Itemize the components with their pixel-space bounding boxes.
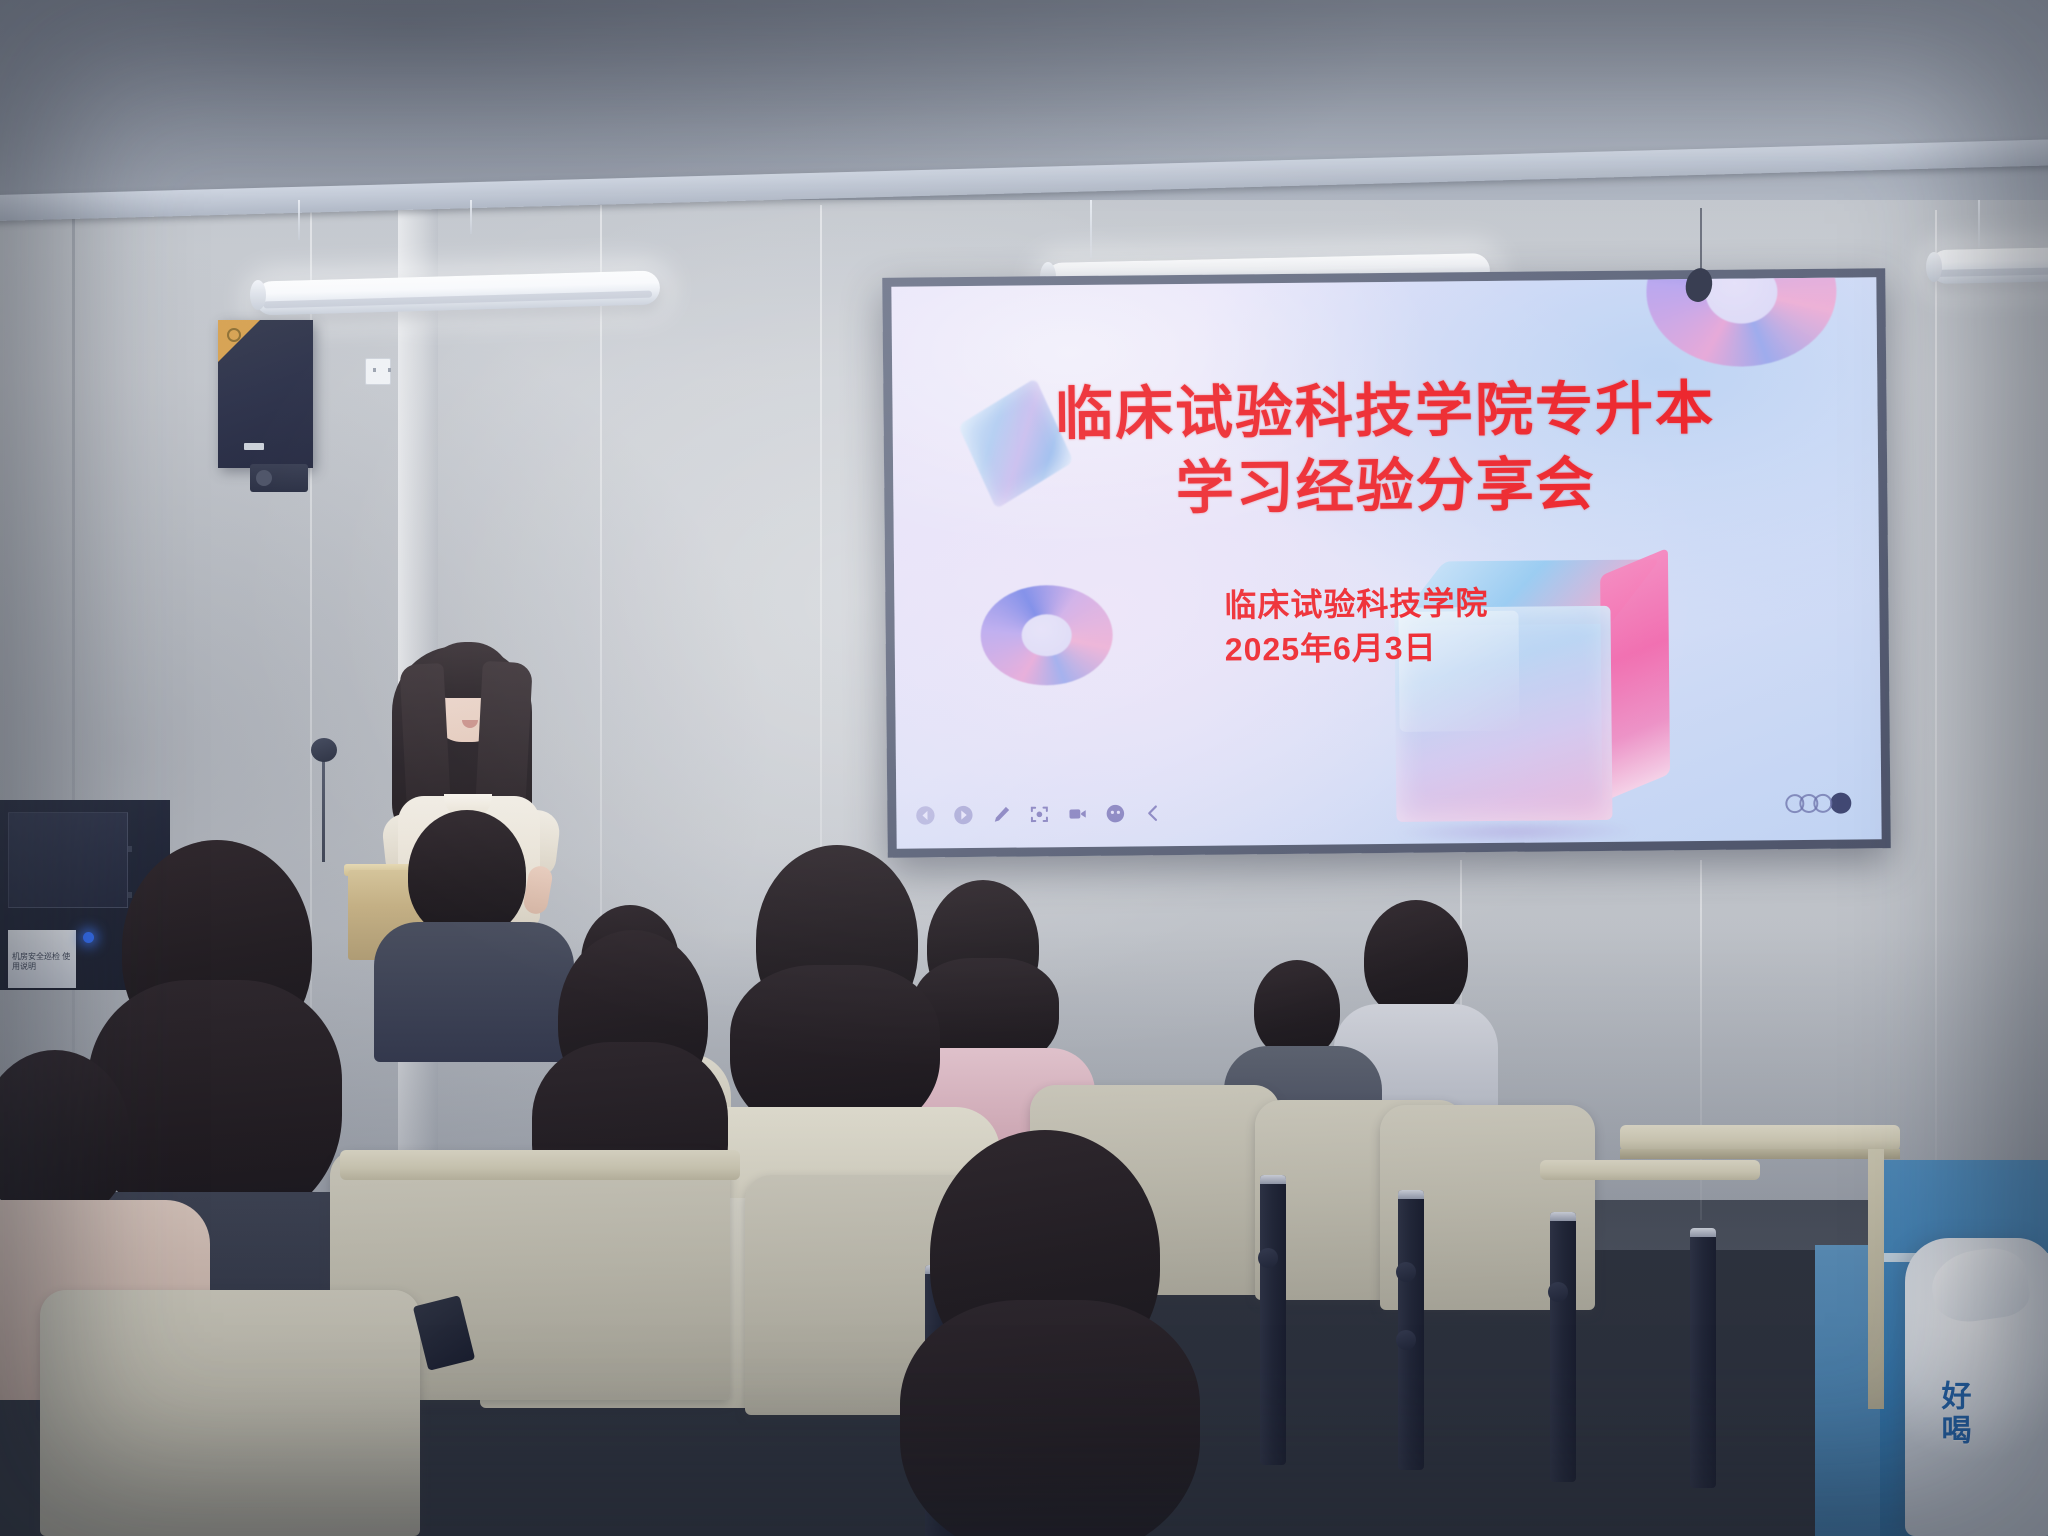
desk-leg	[1868, 1149, 1884, 1409]
desk-surface	[1540, 1160, 1760, 1180]
light-wire	[298, 200, 300, 240]
slide-title-line-1: 临床试验科技学院专升本	[892, 369, 1878, 454]
seat-support-post	[1690, 1228, 1716, 1488]
head	[1254, 960, 1340, 1058]
presentation-slide[interactable]: 临床试验科技学院专升本 学习经验分享会 临床试验科技学院 2025年6月3日	[891, 277, 1881, 848]
slide-subtitle-organization: 临床试验科技学院	[1224, 580, 1644, 628]
pen-annotate-icon[interactable]	[990, 804, 1012, 826]
desk-surface	[1620, 1125, 1900, 1151]
seat-hinge	[1258, 1248, 1278, 1268]
speaker-tag-icon	[227, 328, 241, 342]
slide-subtitle-date: 2025年6月3日	[1225, 624, 1645, 672]
wall-power-socket	[365, 358, 391, 385]
speaker-warning-tag	[218, 320, 260, 362]
speaker-mount-bracket	[250, 464, 308, 492]
seat-post-cap	[1260, 1175, 1286, 1184]
seat-support-post	[1260, 1175, 1286, 1465]
hanging-microphone-wire	[1700, 208, 1702, 274]
wall-speaker	[218, 320, 313, 468]
hair	[900, 1300, 1200, 1536]
audience-member-foreground-1	[880, 1130, 1220, 1536]
desk-edge	[1620, 1149, 1900, 1159]
projection-screen-frame: 临床试验科技学院专升本 学习经验分享会 临床试验科技学院 2025年6月3日	[882, 268, 1891, 858]
laser-focus-icon[interactable]	[1028, 803, 1050, 825]
page-ring-3	[1813, 794, 1832, 813]
collapse-toolbar-icon[interactable]	[1142, 802, 1164, 824]
seat-hinge	[1396, 1330, 1416, 1350]
light-wire	[1090, 200, 1092, 258]
desk-microphone-icon	[311, 738, 337, 762]
seat-post-cap	[1550, 1212, 1576, 1221]
head	[408, 810, 526, 938]
slide-subtitle-block: 临床试验科技学院 2025年6月3日	[1224, 580, 1645, 672]
seat-support-post	[1550, 1212, 1576, 1482]
seat-post-cap	[1690, 1228, 1716, 1237]
seat-hinge	[1548, 1282, 1568, 1302]
ceiling-light-right	[1930, 246, 2048, 284]
speaker-brand-badge	[244, 443, 264, 450]
play-slide-icon[interactable]	[952, 804, 974, 826]
light-wire	[1978, 200, 1980, 248]
page-active-dot	[1830, 793, 1851, 814]
desk-surface	[340, 1150, 740, 1180]
ceiling-light-left-cap	[250, 280, 266, 310]
presentation-toolbar[interactable]	[914, 802, 1164, 826]
head	[0, 1050, 130, 1220]
more-options-icon[interactable]	[1104, 803, 1126, 825]
bag-text-label: 好喝	[1935, 1380, 1970, 1448]
seat-hinge	[1396, 1262, 1416, 1282]
lecture-hall-photo: 临床试验科技学院专升本 学习经验分享会 临床试验科技学院 2025年6月3日	[0, 0, 2048, 1536]
previous-slide-icon[interactable]	[914, 804, 936, 826]
light-wire	[470, 200, 472, 234]
seat-back	[40, 1290, 420, 1536]
slide-title-line-2: 学习经验分享会	[893, 445, 1879, 530]
slide-page-indicator[interactable]	[1785, 793, 1851, 815]
ceiling-light-right-cap	[1926, 252, 1942, 282]
slide-title-block: 临床试验科技学院专升本 学习经验分享会	[892, 369, 1878, 529]
seat-post-cap	[1398, 1190, 1424, 1199]
video-icon[interactable]	[1066, 803, 1088, 825]
